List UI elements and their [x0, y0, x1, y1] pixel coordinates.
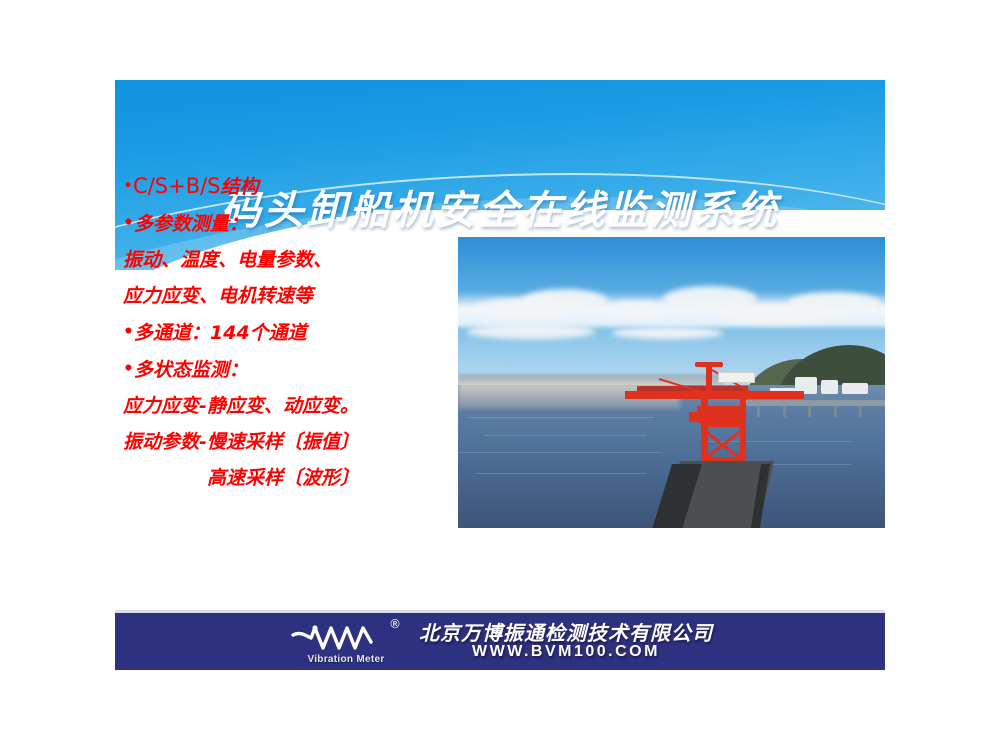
bullet-marker: •: [123, 359, 134, 379]
list-item-label: 多参数测量：: [134, 213, 248, 235]
bullet-list: •C/S+B/S结构 •多参数测量： 振动、温度、电量参数、 应力应变、电机转速…: [123, 168, 473, 496]
list-item-latin: C/S+B/S: [133, 174, 220, 198]
list-item: 应力应变、电机转速等: [123, 278, 473, 314]
photo-wave-line: [475, 473, 646, 474]
photo-crane-tower-cap: [695, 362, 723, 367]
photo-cloud: [522, 289, 607, 312]
footer-content: ® Vibration Meter 北京万博振通检测技术有限公司 WWW.BVM…: [115, 613, 885, 670]
list-item: •多参数测量：: [123, 205, 473, 242]
list-item: 振动参数-慢速采样〔振值〕: [123, 424, 473, 460]
photo-jetty-pile: [757, 406, 760, 418]
photo-wave-line: [484, 435, 646, 436]
list-item-label: 高速采样〔波形〕: [207, 467, 359, 489]
list-item-label: 振动、温度、电量参数、: [123, 249, 332, 271]
slide-canvas: 码头卸船机安全在线监测系统 •C/S+B/S结构 •多参数测量： 振动、温度、电…: [115, 80, 885, 670]
photo-cloud: [787, 292, 881, 315]
photo-crane-nameplate: [718, 372, 754, 383]
photo-tank: [821, 380, 838, 395]
photo-tank: [842, 383, 868, 395]
logo-subtitle: Vibration Meter: [294, 654, 398, 665]
photo-cloud: [467, 324, 595, 339]
footer-bar: ® Vibration Meter 北京万博振通检测技术有限公司 WWW.BVM…: [115, 610, 885, 670]
photo-jetty-pile: [834, 406, 837, 418]
list-item-label: 应力应变、电机转速等: [123, 285, 313, 307]
photo-crane-crossbeam: [701, 423, 746, 427]
company-name: 北京万博振通检测技术有限公司: [419, 623, 713, 644]
list-item-label: 多通道：144个通道: [134, 322, 307, 344]
bullet-marker: •: [123, 176, 133, 196]
vibration-waveform-icon: ® Vibration Meter: [287, 618, 405, 666]
list-item: 振动、温度、电量参数、: [123, 242, 473, 278]
company-website[interactable]: WWW.BVM100.COM: [472, 644, 660, 661]
bullet-marker: •: [123, 322, 134, 342]
photo-jetty-pile: [859, 406, 862, 418]
photo-wave-line: [458, 452, 663, 453]
list-item-label: 多状态监测：: [134, 359, 248, 381]
bullet-marker: •: [123, 213, 134, 233]
list-item: 应力应变-静应变、动应变。: [123, 388, 473, 424]
port-crane-photo: [458, 237, 885, 528]
photo-jetty: [740, 400, 885, 406]
list-item-cjk: 结构: [221, 176, 259, 198]
list-item: 高速采样〔波形〕: [123, 460, 473, 496]
photo-cloud: [612, 327, 723, 339]
photo-crane-operator-cab: [689, 412, 702, 422]
list-item-label: 振动参数-慢速采样〔振值〕: [123, 431, 359, 453]
list-item: •多通道：144个通道: [123, 314, 473, 351]
registered-trademark-icon: ®: [389, 618, 401, 630]
footer-company-block: 北京万博振通检测技术有限公司 WWW.BVM100.COM: [419, 623, 713, 661]
list-item: •多状态监测：: [123, 351, 473, 388]
photo-wave-line: [467, 417, 655, 418]
photo-jetty-pile: [783, 406, 786, 418]
photo-jetty-pile: [808, 406, 811, 418]
list-item: •C/S+B/S结构: [123, 168, 473, 205]
list-item-label: 应力应变-静应变、动应变。: [123, 395, 359, 417]
